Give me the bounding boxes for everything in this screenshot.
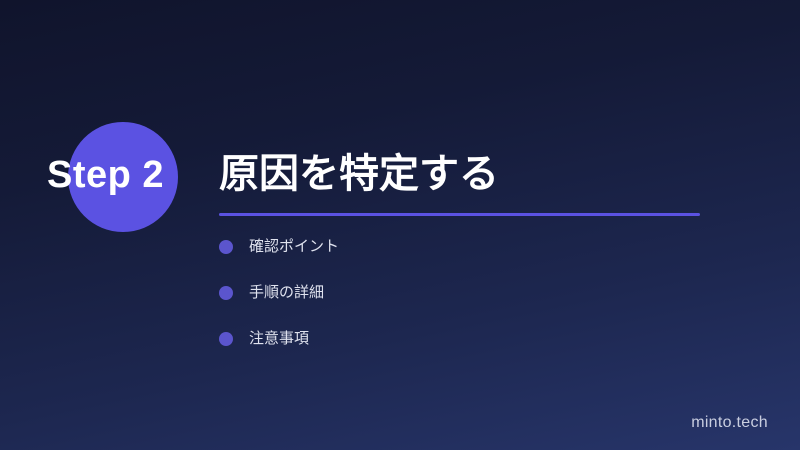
list-item: 手順の詳細 (219, 284, 739, 302)
list-item: 注意事項 (219, 330, 739, 348)
list-item: 確認ポイント (219, 238, 739, 256)
slide-canvas: Step 2 原因を特定する 確認ポイント 手順の詳細 注意事項 minto.t… (0, 0, 800, 450)
step-label: Step 2 (47, 152, 164, 198)
list-item-label: 確認ポイント (249, 238, 339, 256)
bullet-dot-icon (219, 286, 233, 300)
footer-brand: minto.tech (691, 414, 768, 432)
bullet-list: 確認ポイント 手順の詳細 注意事項 (219, 238, 739, 348)
title-divider (219, 213, 700, 216)
bullet-dot-icon (219, 332, 233, 346)
list-item-label: 注意事項 (249, 330, 309, 348)
page-title: 原因を特定する (219, 150, 499, 198)
list-item-label: 手順の詳細 (249, 284, 324, 302)
bullet-dot-icon (219, 240, 233, 254)
